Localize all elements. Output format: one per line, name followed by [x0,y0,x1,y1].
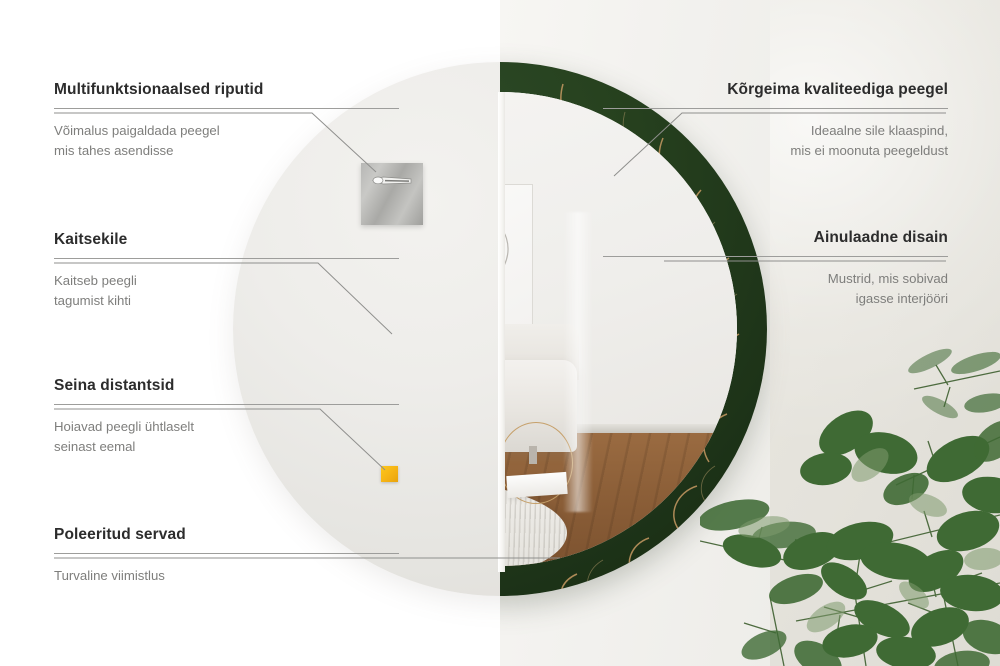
callout-rule [54,404,399,405]
callout-title: Multifunktsionaalsed riputid [54,80,399,99]
mirror-glass [500,92,737,566]
wall-spacer-icon [381,466,398,482]
reflected-magazine [506,472,567,498]
callout-description: Ideaalne sile klaaspind, mis ei moonuta … [603,121,948,159]
callout-rule [603,108,948,109]
callout-title: Kõrgeima kvaliteediga peegel [603,80,948,99]
callout-rule [54,258,399,259]
glass-reflection-streak [563,212,593,512]
callout-rule [603,256,948,257]
callout-description: Turvaline viimistlus [54,566,399,585]
product-feature-diagram: Multifunktsionaalsed riputid Võimalus pa… [0,0,1000,666]
callout-film: Kaitsekile Kaitseb peegli tagumist kihti [54,230,399,310]
callout-description: Mustrid, mis sobivad igasse interjööri [603,269,948,307]
callout-edges: Poleeritud servad Turvaline viimistlus [54,525,399,586]
keyhole-slot-icon [371,175,413,186]
callout-rule [54,108,399,109]
callout-title: Kaitsekile [54,230,399,249]
callout-description: Hoiavad peegli ühtlaselt seinast eemal [54,417,399,455]
callout-title: Poleeritud servad [54,525,399,544]
callout-quality: Kõrgeima kvaliteediga peegel Ideaalne si… [603,80,948,160]
callout-rule [54,553,399,554]
callout-title: Ainulaadne disain [603,228,948,247]
hanger-plate-icon [361,163,423,225]
callout-title: Seina distantsid [54,376,399,395]
callout-design: Ainulaadne disain Mustrid, mis sobivad i… [603,228,948,308]
callout-description: Võimalus paigaldada peegel mis tahes ase… [54,121,399,159]
callout-description: Kaitseb peegli tagumist kihti [54,271,399,309]
callout-spacers: Seina distantsid Hoiavad peegli ühtlasel… [54,376,399,456]
mirror-edge-highlight [498,92,505,572]
callout-hangers: Multifunktsionaalsed riputid Võimalus pa… [54,80,399,160]
